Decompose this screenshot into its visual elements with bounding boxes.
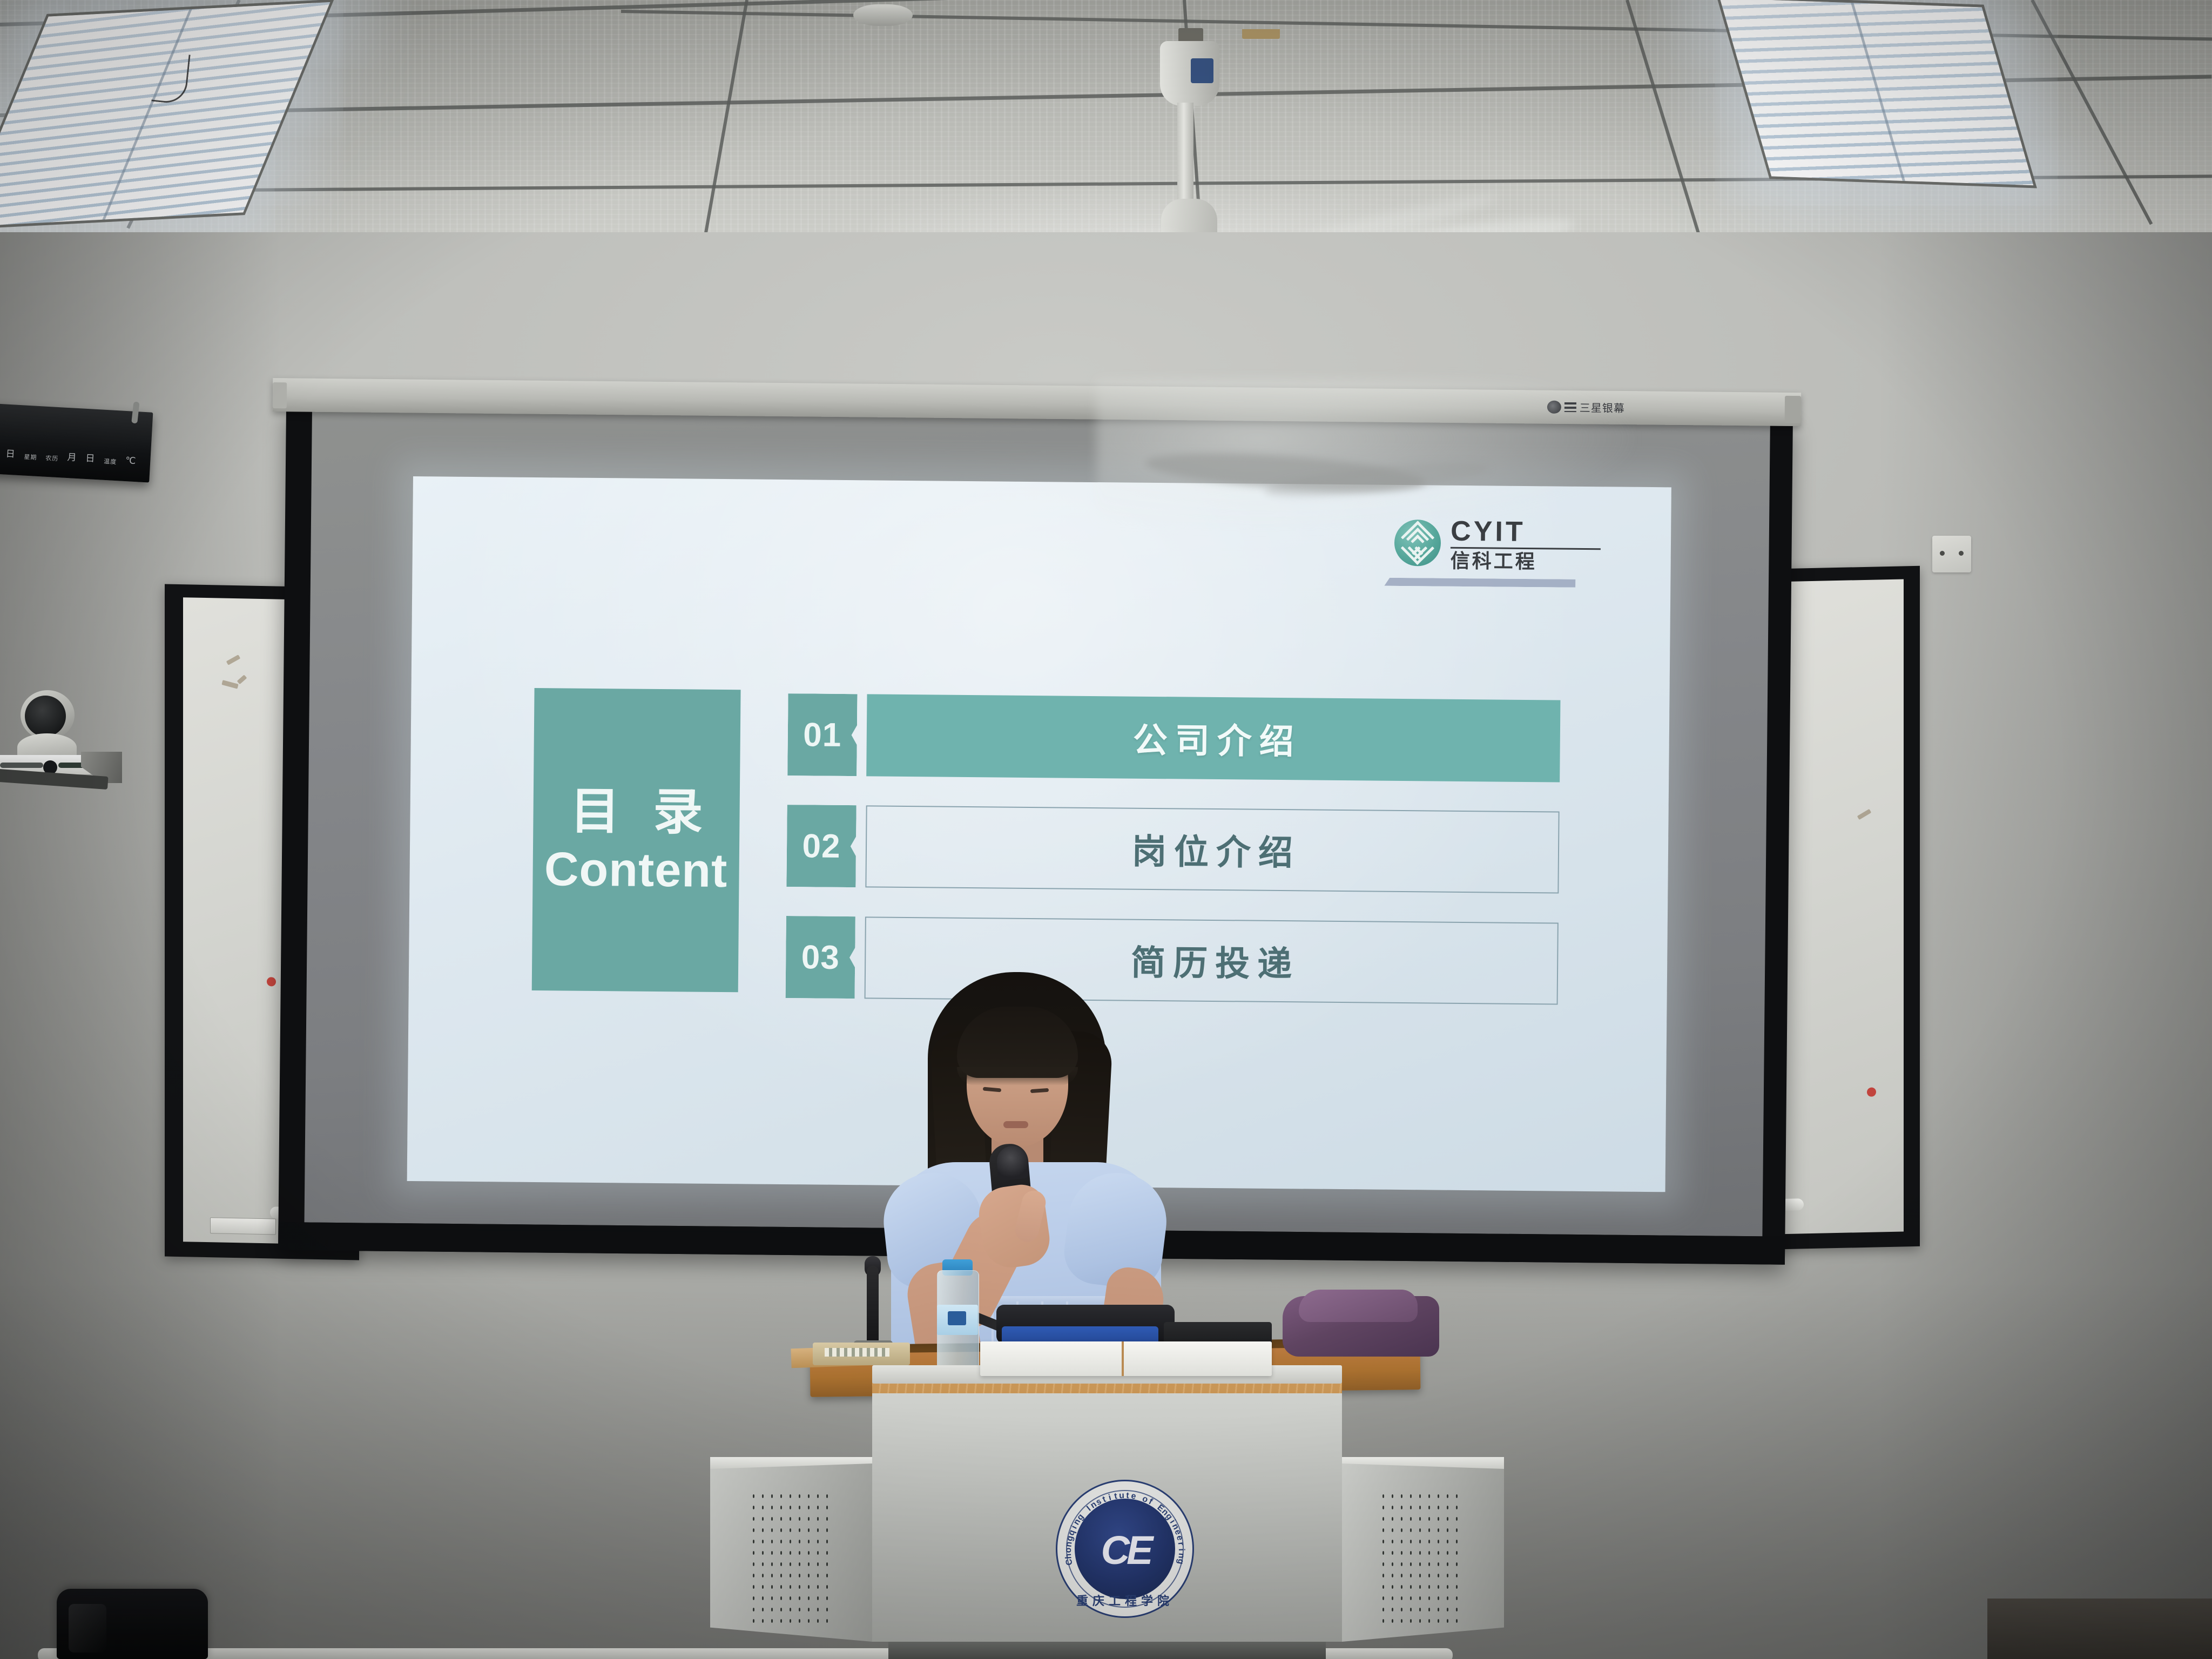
logo-brand-chinese: 信科工程 [1451,550,1601,573]
clock-label-lunar: 农历 [45,456,59,462]
maze-glyph [1395,521,1440,565]
agenda-number-badge: 02 [786,805,856,887]
brand-mark-icon [1547,400,1561,413]
whiteboard-smudge [237,675,247,684]
roller-tab [1242,29,1280,39]
emblem-arc-char: t [1126,1491,1130,1501]
agenda-bar[interactable]: 岗位介绍 [865,805,1559,893]
camera-lens-icon [25,696,66,737]
side-desk [1987,1599,2212,1659]
lectern-base [888,1642,1326,1659]
paper-stack [980,1341,1272,1376]
company-logo: CYIT 信科工程 [1394,516,1610,588]
clock-label-temperature: 温度 [104,459,117,466]
wall-clock-display[interactable]: 月 日 星期 农历 月 日 温度 ℃ [0,403,153,482]
emblem-arc-char: i [1176,1548,1186,1552]
agenda-bar-active[interactable]: 公司介绍 [866,694,1560,782]
clock-label-day: 日 [5,446,16,460]
emblem-arc-char: h [1064,1553,1074,1559]
agenda-label: 岗位介绍 [1124,824,1301,875]
clock-label-row: 月 日 星期 农历 月 日 温度 ℃ [0,445,150,468]
emblem-arc-char: g [1175,1558,1186,1566]
cyit-maze-logo-icon [1394,520,1441,567]
emblem-arc-char: r [1176,1541,1186,1547]
classroom-scene: 月 日 星期 农历 月 日 温度 ℃ [0,0,2212,1659]
fan-downrod [1177,103,1193,205]
fluorescent-troffer-right [1716,0,2037,188]
agenda-number-badge: 01 [787,693,857,776]
emblem-arc-char: i [1108,1493,1113,1503]
wall-socket[interactable] [1932,536,1971,572]
ptz-conference-camera [5,686,119,788]
agenda-item-01[interactable]: 01 公司介绍 [787,693,1560,782]
emblem-chinese-text: 重庆工程学院 [1057,1591,1192,1609]
roller-brand-text: 三星银幕 [1580,399,1625,415]
lectern-podium: CE Chongqing Institute of Engineering 重庆… [710,1372,1504,1659]
desk-clutter-detail [825,1348,889,1357]
camera-vent [0,763,43,768]
paper-stack-divider [1122,1341,1124,1376]
roller-end-cap [1785,396,1801,423]
purple-cloth-fold [1299,1290,1418,1322]
brand-bars-icon [1564,402,1576,412]
fan-ceiling-mount [1178,28,1203,42]
water-bottle-brand-icon [948,1311,966,1325]
directory-title-box: 目 录 Content [532,688,741,992]
logo-brand-latin: CYIT [1451,517,1601,547]
agenda-label: 公司介绍 [1125,713,1301,764]
university-emblem: CE Chongqing Institute of Engineering 重庆… [1056,1480,1194,1618]
agenda-list: 01 公司介绍 02 岗位介绍 03 简历投递 [786,693,1561,1004]
emblem-arc-char: o [1064,1547,1074,1553]
whiteboard-magnet [1867,1088,1876,1097]
chair-back [57,1589,208,1659]
speaker-perforation-right [1379,1491,1460,1626]
speaker-perforation-left [749,1491,830,1626]
logo-underbar [1384,578,1575,588]
clock-label-celsius: ℃ [125,455,137,467]
roller-end-cap [273,382,287,408]
whiteboard-magnet [267,977,276,986]
roller-brand-logo: 三星银幕 [1547,399,1625,415]
presenter-mouth [1003,1121,1028,1128]
smoke-detector-icon [853,4,913,26]
clock-label-lunar-month: 月 [67,449,77,463]
fan-brand-label [1191,58,1213,83]
whiteboard-smudge [226,655,241,665]
emblem-arc-char: t [1114,1492,1118,1502]
clock-label-lunar-day: 日 [85,450,96,464]
whiteboard-smudge [1857,809,1872,820]
directory-title-english: Content [544,842,728,897]
whiteboard-asset-label [210,1217,276,1235]
chair-highlight [69,1604,106,1653]
clock-label-weekday: 星期 [24,455,37,461]
directory-title-chinese: 目 录 [560,783,712,840]
emblem-arc-char: e [1130,1492,1137,1502]
emblem-arc-char: u [1119,1491,1125,1501]
slide-content-area: 目 录 Content 01 公司介绍 02 岗位介绍 03 [532,688,1561,1000]
gooseneck-microphone [867,1266,879,1347]
agenda-number-badge: 03 [786,916,855,999]
logo-text-block: CYIT 信科工程 [1451,517,1601,573]
agenda-item-02[interactable]: 02 岗位介绍 [786,805,1559,893]
whiteboard-smudge [221,680,238,689]
